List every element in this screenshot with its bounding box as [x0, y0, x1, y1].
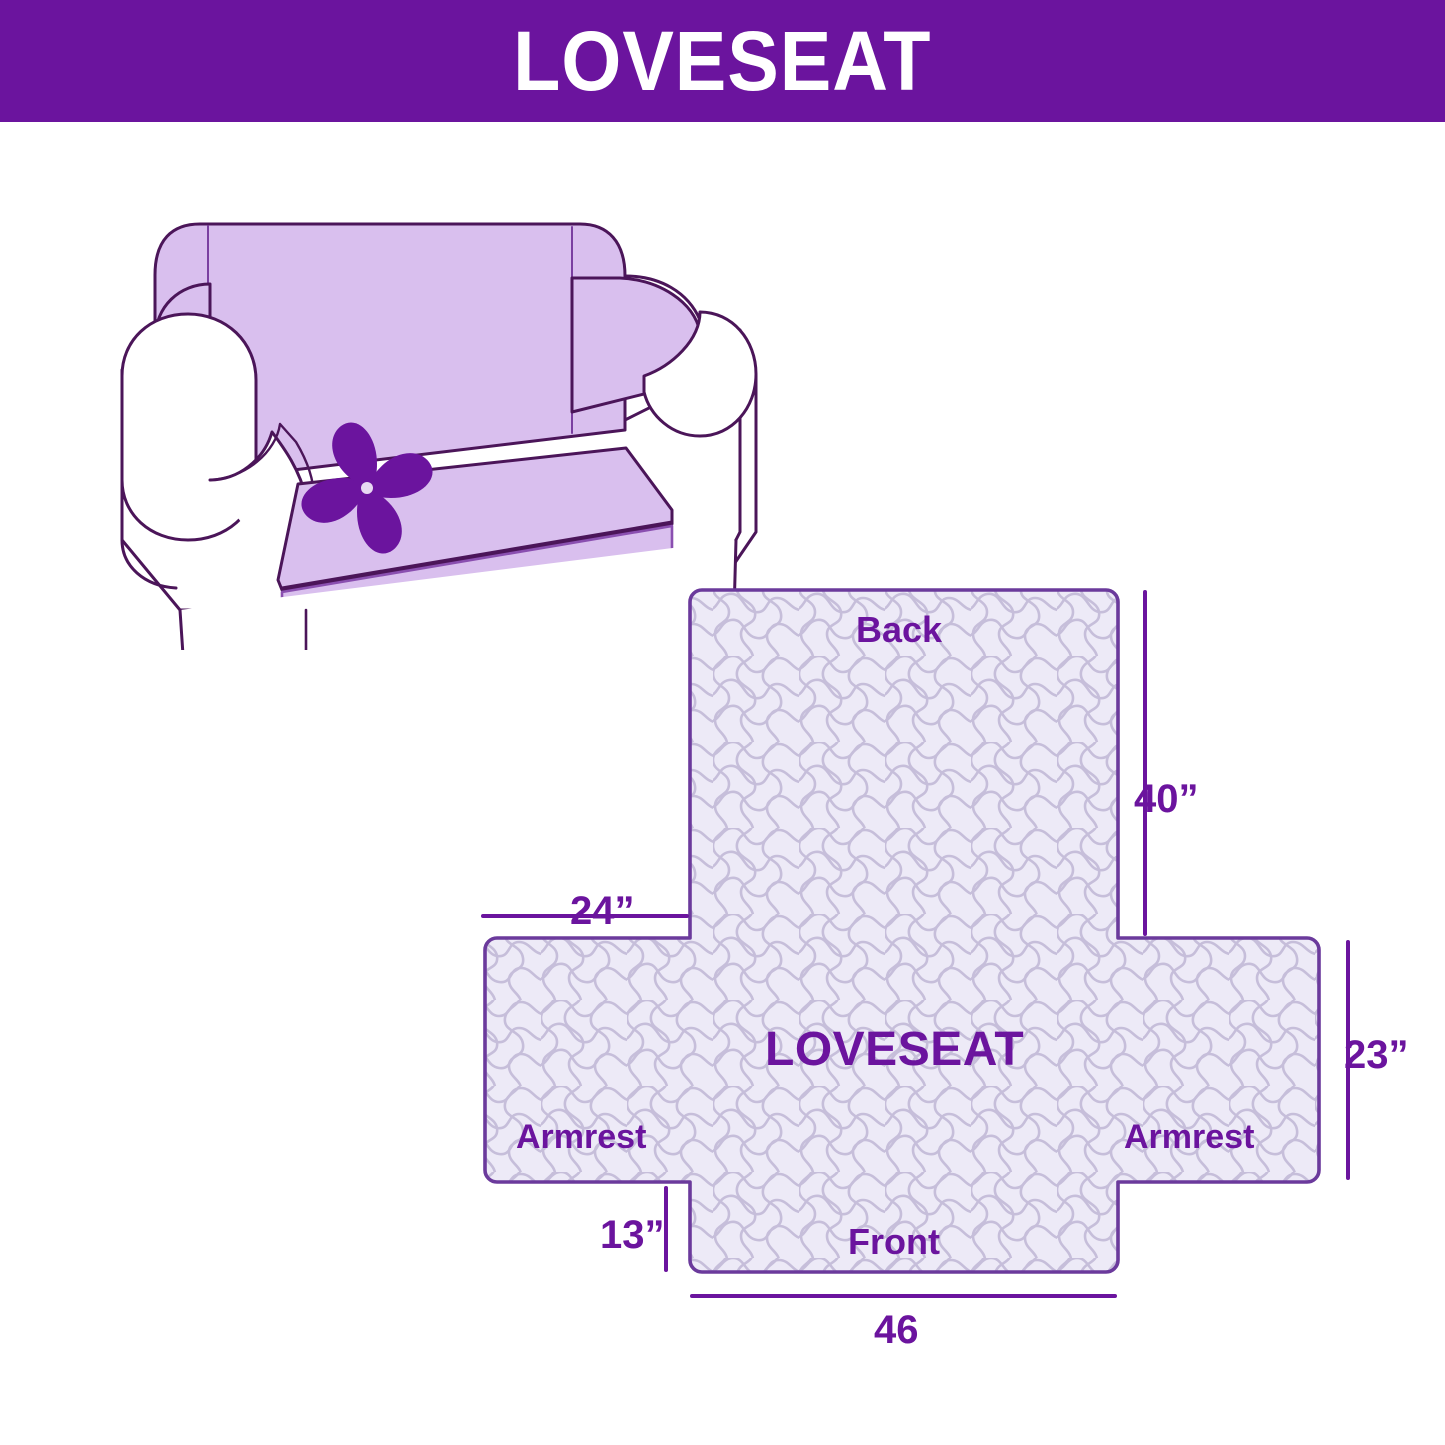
dimension-front-width: 46 [874, 1310, 919, 1350]
page-title: LOVESEAT [513, 19, 931, 103]
panel-label-armrest-right: Armrest [1124, 1120, 1254, 1154]
dimension-back-height: 40” [1134, 779, 1199, 819]
cover-cross-diagram [455, 570, 1445, 1380]
panel-label-center: LOVESEAT [765, 1026, 1024, 1074]
header-banner: LOVESEAT [0, 0, 1445, 122]
panel-label-back: Back [856, 612, 942, 648]
dimension-armrest-depth: 23” [1344, 1035, 1409, 1075]
panel-label-armrest-left: Armrest [516, 1120, 646, 1154]
product-spec-image: LOVESEAT [0, 0, 1445, 1445]
dimension-armrest-width: 24” [570, 891, 635, 931]
panel-label-front: Front [848, 1224, 940, 1260]
dimension-front-height: 13” [600, 1215, 665, 1255]
